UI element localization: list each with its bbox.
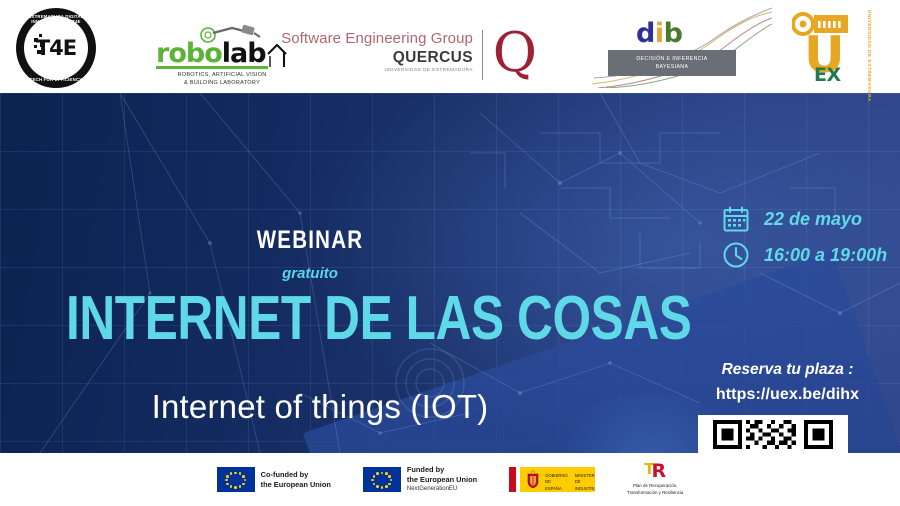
page-subtitle: Internet of things (IOT) [0,390,640,423]
logo-eu-funded: Funded by the European Union NextGenerat… [363,465,477,493]
spain-flag-white-stripe [516,467,520,492]
spain-gov-line2: DE ESPAÑA [545,479,568,492]
logo-robolab: robolab ROBOTICS, ARTIFICIAL VISION & BU… [152,26,292,82]
calendar-icon [722,205,750,233]
eu-funded-text: Funded by the European Union NextGenerat… [407,465,477,493]
robolab-underline [156,66,268,69]
tr-caption-line2: Transformación y Resiliencia [627,490,683,497]
hero-banner: WEBINAR gratuito INTERNET DE LAS COSAS I… [0,93,900,453]
spain-coat-of-arms-icon [525,470,541,489]
qr-code-image [703,420,843,453]
schedule-date-label: 22 de mayo [764,209,862,230]
spain-government-text: GOBIERNO DE ESPAÑA MINISTERIO DE INDUSTR… [545,473,595,492]
tr-caption-line1: Plan de Recuperación, [627,483,683,490]
spain-government-banner: GOBIERNO DE ESPAÑA MINISTERIO DE INDUSTR… [509,467,595,492]
eu-flag-icon [217,467,255,492]
booking-label: Reserva tu plaza : [680,361,895,379]
dib-caption-line2: BAYESIANA [656,63,689,71]
dib-wordmark: dib [636,20,682,47]
eyebrow-webinar: WEBINAR [56,226,564,255]
dib-caption-line1: DECISIÓN E INFERENCIA [636,55,707,63]
tr-letter-r: R [652,462,667,481]
eu-cofunded-text: Co-funded by the European Union [261,470,331,490]
robolab-subtitle-line2: & BUILDING LABORATORY [152,79,292,87]
quercus-line1: Software Engineering Group [281,30,473,47]
eu-cofunded-line2: the European Union [261,480,331,490]
eyebrow-gratuito: gratuito [0,265,620,282]
robolab-word-b: lab [222,38,266,69]
logo-dib: dib DECISIÓN E INFERENCIA BAYESIANA [592,6,772,88]
t4e-arc-top-text: EXTREMADURA DIGITAL INNOVATION HUB T4E [16,14,96,24]
dib-caption-box: DECISIÓN E INFERENCIA BAYESIANA [608,50,736,76]
eu-flag-icon-2 [363,467,401,492]
dib-letter-i: i [655,18,664,49]
logo-quercus: Software Engineering Group QUERCUS UNIVE… [318,30,533,82]
t4e-pixel-dots [34,34,54,56]
quercus-line3: UNIVERSIDAD DE EXTREMADURA [384,67,473,72]
robolab-word-a: robo [156,38,222,69]
logo-plan-recuperacion: T R Plan de Recuperación, Transformación… [627,462,683,496]
eu-cofunded-line1: Co-funded by [261,470,331,480]
clock-icon [722,241,750,269]
schedule-time-row: 16:00 a 19:00h [722,241,887,269]
uex-letters-ex: EX [814,66,841,85]
uex-vertical-text: UNIVERSIDAD DE EXTREMADURA [860,10,872,86]
logo-eu-cofunded: Co-funded by the European Union [217,467,331,492]
robolab-wordmark: robolab [156,40,266,67]
spain-gov-block: GOBIERNO DE ESPAÑA [545,473,568,492]
dib-letter-b: b [664,18,683,49]
dib-letter-d: d [636,18,655,49]
robolab-subtitle-line1: ROBOTICS, ARTIFICIAL VISION [152,71,292,79]
eu-funded-line3: NextGenerationEU [407,485,477,493]
quercus-q-mark: Q [493,26,537,80]
tr-mark: T R [644,462,666,481]
funding-logo-footer: Co-funded by the European Union Funde [0,453,900,506]
spain-ministry-block: MINISTERIO DE INDUSTRIA Y TURISMO [575,473,595,492]
logo-t4e: T4E EXTREMADURA DIGITAL INNOVATION HUB T… [12,8,100,88]
booking-url[interactable]: https://uex.be/dihx [680,386,895,404]
robolab-subtitle: ROBOTICS, ARTIFICIAL VISION & BUILDING L… [152,71,292,87]
webinar-poster: T4E EXTREMADURA DIGITAL INNOVATION HUB T… [0,0,900,506]
page-title: INTERNET DE LAS COSAS [66,288,594,350]
t4e-arc-bottom-text: TECH FOR EFFICIENCY [16,77,96,82]
eu-funded-line2: the European Union [407,475,477,485]
tr-caption: Plan de Recuperación, Transformación y R… [627,483,683,496]
schedule-date-row: 22 de mayo [722,205,862,233]
sponsor-logo-header: T4E EXTREMADURA DIGITAL INNOVATION HUB T… [0,0,900,93]
logo-uex: U EX UNIVERSIDAD DE EXTREMADURA [790,8,886,88]
quercus-divider [482,30,484,80]
eu-funded-line1: Funded by [407,465,477,475]
spain-min-line2: DE INDUSTRIA [575,479,595,492]
quercus-line2: QUERCUS [393,49,473,67]
logo-gobierno-espana: GOBIERNO DE ESPAÑA MINISTERIO DE INDUSTR… [509,467,595,492]
schedule-time-label: 16:00 a 19:00h [764,245,887,266]
qr-code[interactable] [698,415,848,453]
spain-flag-red-stripe [509,467,516,492]
